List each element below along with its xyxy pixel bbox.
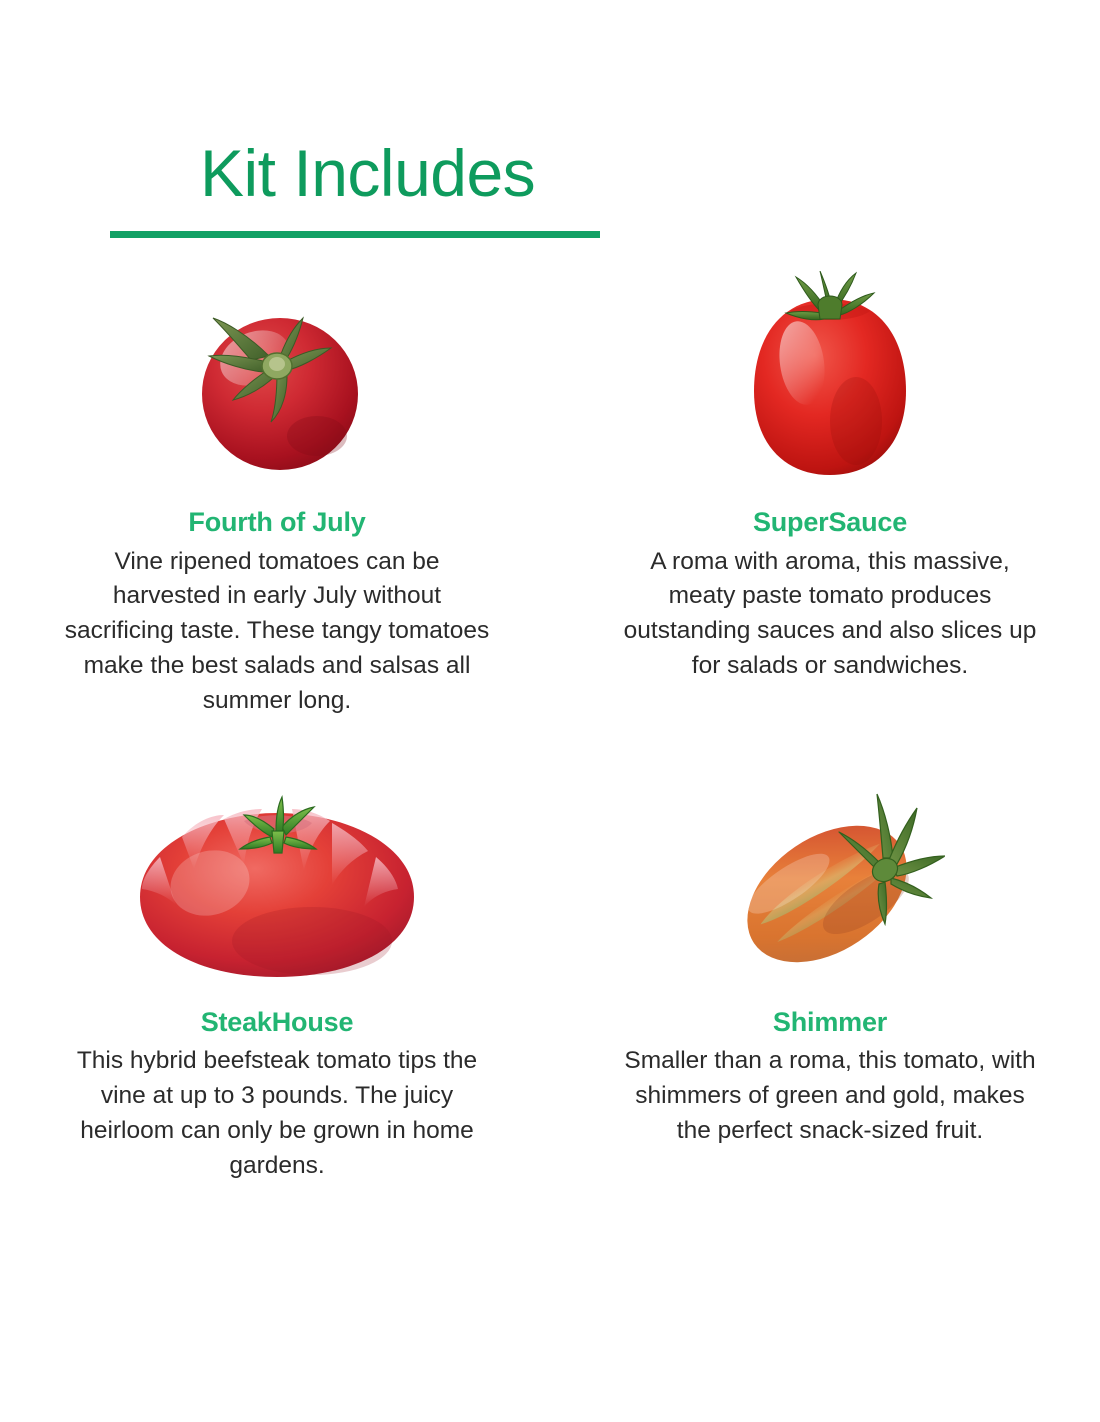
variety-description-shimmer: Smaller than a roma, this tomato, with s… [610,1044,1050,1148]
tomato-image-fourth-of-july [52,256,502,486]
variety-grid: Fourth of July Vine ripened tomatoes can… [0,256,1100,1183]
variety-name-steakhouse: SteakHouse [52,1008,502,1038]
title-underline-rule [110,231,600,238]
tomato-image-supersauce [610,256,1050,486]
variety-card-steakhouse[interactable]: SteakHouse This hybrid beefsteak tomato … [0,771,550,1184]
variety-card-fourth-of-july[interactable]: Fourth of July Vine ripened tomatoes can… [0,256,550,719]
page-header: Kit Includes [0,0,1100,250]
page-title: Kit Includes [200,140,535,206]
variety-name-fourth-of-july: Fourth of July [52,508,502,538]
tomato-image-steakhouse [52,771,502,986]
variety-description-supersauce: A roma with aroma, this massive, meaty p… [610,545,1050,684]
variety-description-fourth-of-july: Vine ripened tomatoes can be harvested i… [52,545,502,719]
tomato-image-shimmer [610,771,1050,986]
variety-card-shimmer[interactable]: Shimmer Smaller than a roma, this tomato… [550,771,1100,1184]
variety-card-supersauce[interactable]: SuperSauce A roma with aroma, this massi… [550,256,1100,719]
variety-description-steakhouse: This hybrid beefsteak tomato tips the vi… [52,1044,502,1183]
variety-name-supersauce: SuperSauce [610,508,1050,538]
variety-name-shimmer: Shimmer [610,1008,1050,1038]
